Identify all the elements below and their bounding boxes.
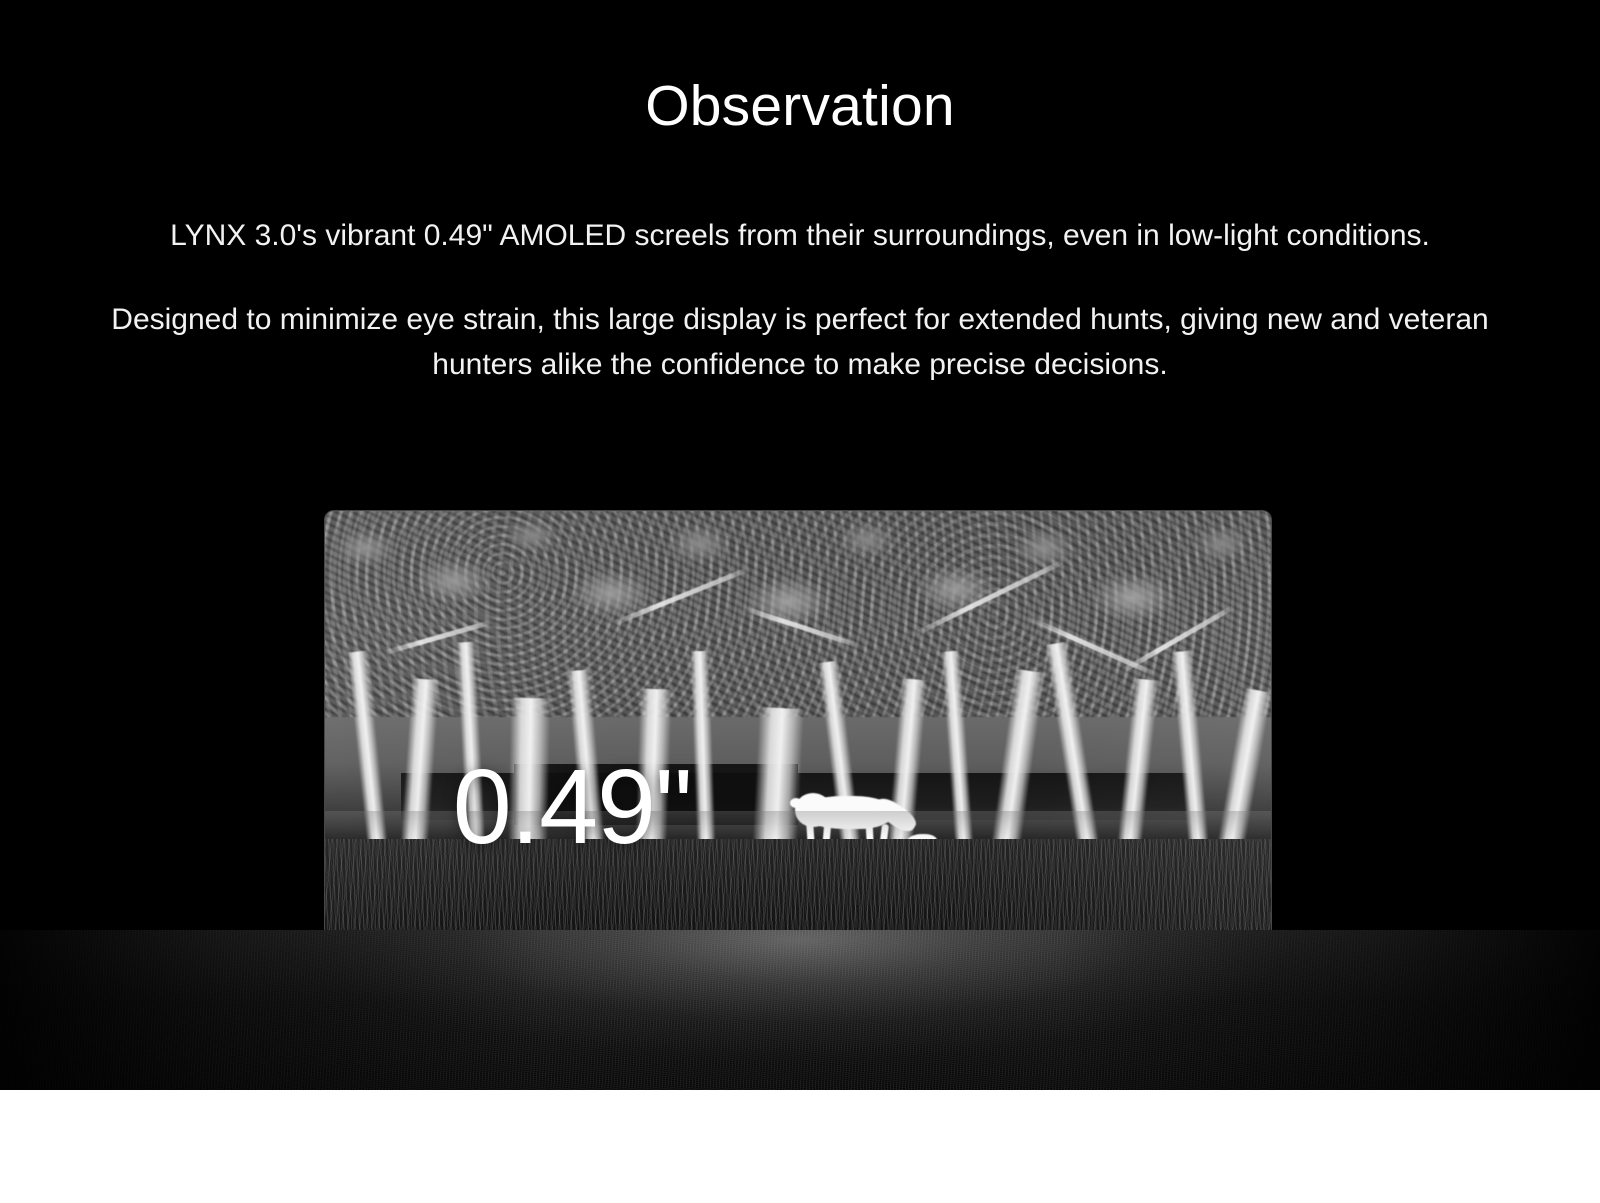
paragraph-spacer [70, 258, 1530, 298]
page-title: Observation [0, 74, 1600, 140]
thermal-display-panel: 0.49" [325, 511, 1271, 979]
ground-vignette [0, 930, 1600, 1090]
copy-paragraph-2: Designed to minimize eye strain, this la… [70, 298, 1530, 387]
scene-grass-glow [325, 811, 1271, 839]
marketing-page: Observation LYNX 3.0's vibrant 0.49" AMO… [0, 0, 1600, 1203]
marketing-copy: LYNX 3.0's vibrant 0.49" AMOLED screels … [70, 214, 1530, 387]
bottom-white-band [0, 1090, 1600, 1203]
copy-paragraph-1: LYNX 3.0's vibrant 0.49" AMOLED screels … [70, 214, 1530, 258]
product-ground-surface [0, 930, 1600, 1090]
observation-hero-section: Observation LYNX 3.0's vibrant 0.49" AMO… [0, 0, 1600, 1090]
